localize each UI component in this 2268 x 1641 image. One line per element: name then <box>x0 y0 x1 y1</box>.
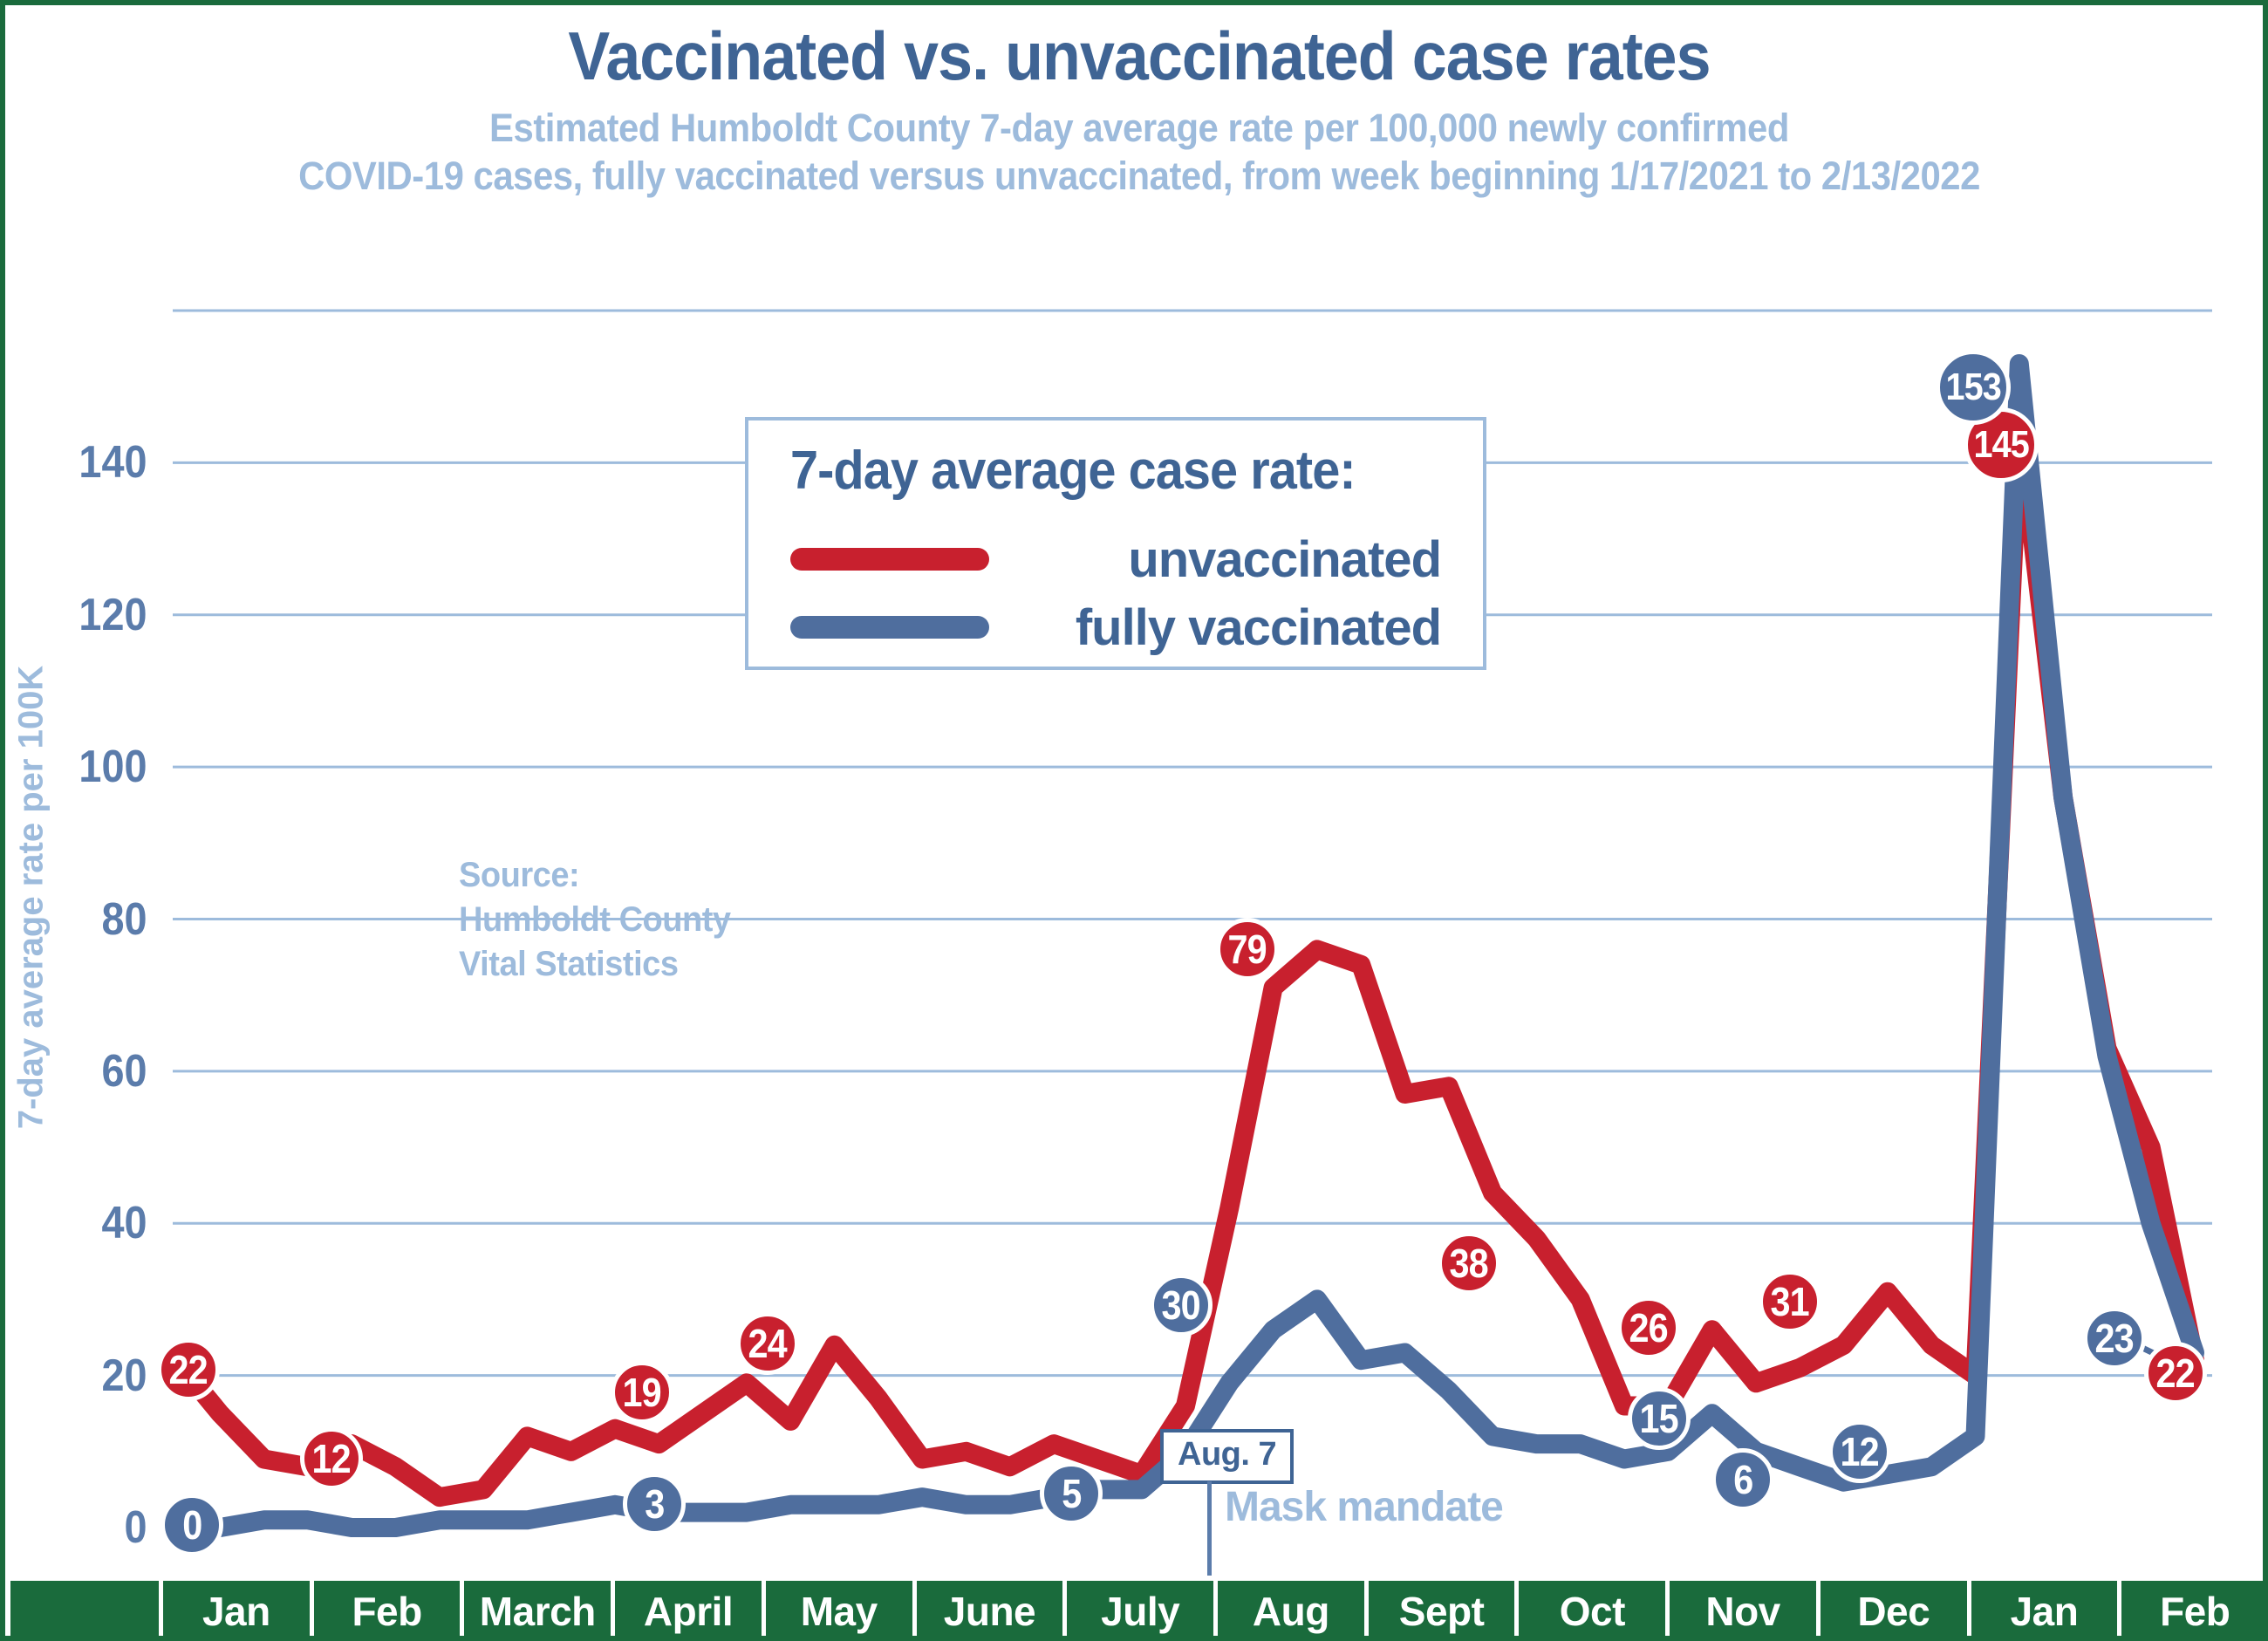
infographic-page: Vaccinated vs. unvaccinated case rates E… <box>0 0 2268 1641</box>
annotation-event-label: Mask mandate <box>1225 1483 1503 1531</box>
chart-legend: 7-day average case rate: unvaccinated fu… <box>745 417 1486 670</box>
data-label-bubble: 0 <box>161 1494 223 1556</box>
data-label-bubble: 79 <box>1216 918 1279 981</box>
annotation-stem-line <box>1207 1481 1212 1576</box>
y-axis-tick-label: 140 <box>30 436 147 489</box>
data-label-bubble: 26 <box>1617 1296 1680 1359</box>
data-label-bubble: 15 <box>1628 1387 1691 1450</box>
data-label-bubble: 3 <box>623 1473 686 1535</box>
x-axis-month-label: Jan <box>1971 1581 2122 1641</box>
chart-svg <box>5 5 2268 1576</box>
x-axis-month-label: June <box>917 1581 1068 1641</box>
data-label-bubble: 12 <box>1828 1420 1891 1483</box>
y-axis-tick-label: 20 <box>30 1350 147 1402</box>
y-axis-tick-label: 0 <box>30 1501 147 1554</box>
x-axis-month-label: Feb <box>2121 1581 2268 1641</box>
data-label-bubble: 24 <box>736 1312 799 1375</box>
data-label-bubble: 19 <box>611 1361 673 1424</box>
data-label-bubble: 153 <box>1936 350 2011 425</box>
legend-item-fully-vaccinated[interactable]: fully vaccinated <box>790 593 1453 661</box>
data-label-bubble: 38 <box>1438 1232 1500 1295</box>
x-axis-month-label: Sept <box>1369 1581 1520 1641</box>
data-label-bubble: 12 <box>300 1427 363 1490</box>
data-label-bubble: 23 <box>2083 1307 2146 1370</box>
x-axis-month-label: Dec <box>1821 1581 1971 1641</box>
y-axis-title: 7-day average rate per 100K <box>12 592 51 1203</box>
x-axis-month-label: April <box>615 1581 766 1641</box>
source-note: Source: Humboldt County Vital Statistics <box>459 853 731 988</box>
chart-plot-area: 020406080100120140 7-day average rate pe… <box>5 5 2268 1576</box>
legend-swatch-fully-vaccinated <box>790 616 989 639</box>
data-label-bubble: 22 <box>2144 1342 2207 1405</box>
x-axis-month-label: May <box>766 1581 917 1641</box>
data-label-bubble: 6 <box>1711 1448 1774 1511</box>
x-axis-month-label: Jan <box>163 1581 314 1641</box>
x-axis-month-label: July <box>1067 1581 1218 1641</box>
data-label-bubble: 22 <box>157 1338 220 1401</box>
legend-label-fully-vaccinated: fully vaccinated <box>989 598 1453 657</box>
source-note-line-3: Vital Statistics <box>459 942 731 987</box>
data-label-bubble: 31 <box>1759 1270 1821 1333</box>
legend-item-unvaccinated[interactable]: unvaccinated <box>790 525 1453 593</box>
x-axis-month-label: Feb <box>314 1581 465 1641</box>
x-axis-month-label: Nov <box>1670 1581 1821 1641</box>
x-axis-month-label: Aug <box>1218 1581 1369 1641</box>
legend-title: 7-day average case rate: <box>790 440 1356 502</box>
month-strip-leading-pad <box>10 1581 163 1641</box>
source-note-line-1: Source: <box>459 853 731 898</box>
legend-swatch-unvaccinated <box>790 548 989 571</box>
data-label-bubble: 5 <box>1040 1462 1103 1525</box>
x-axis-month-strip: JanFebMarchAprilMayJuneJulyAugSeptOctNov… <box>10 1581 2268 1641</box>
y-axis-tick-label: 40 <box>30 1197 147 1249</box>
x-axis-month-label: March <box>464 1581 615 1641</box>
source-note-line-2: Humboldt County <box>459 898 731 942</box>
data-label-bubble: 30 <box>1150 1274 1213 1337</box>
legend-label-unvaccinated: unvaccinated <box>989 530 1453 589</box>
annotation-date-box: Aug. 7 <box>1160 1429 1294 1484</box>
x-axis-month-label: Oct <box>1519 1581 1670 1641</box>
